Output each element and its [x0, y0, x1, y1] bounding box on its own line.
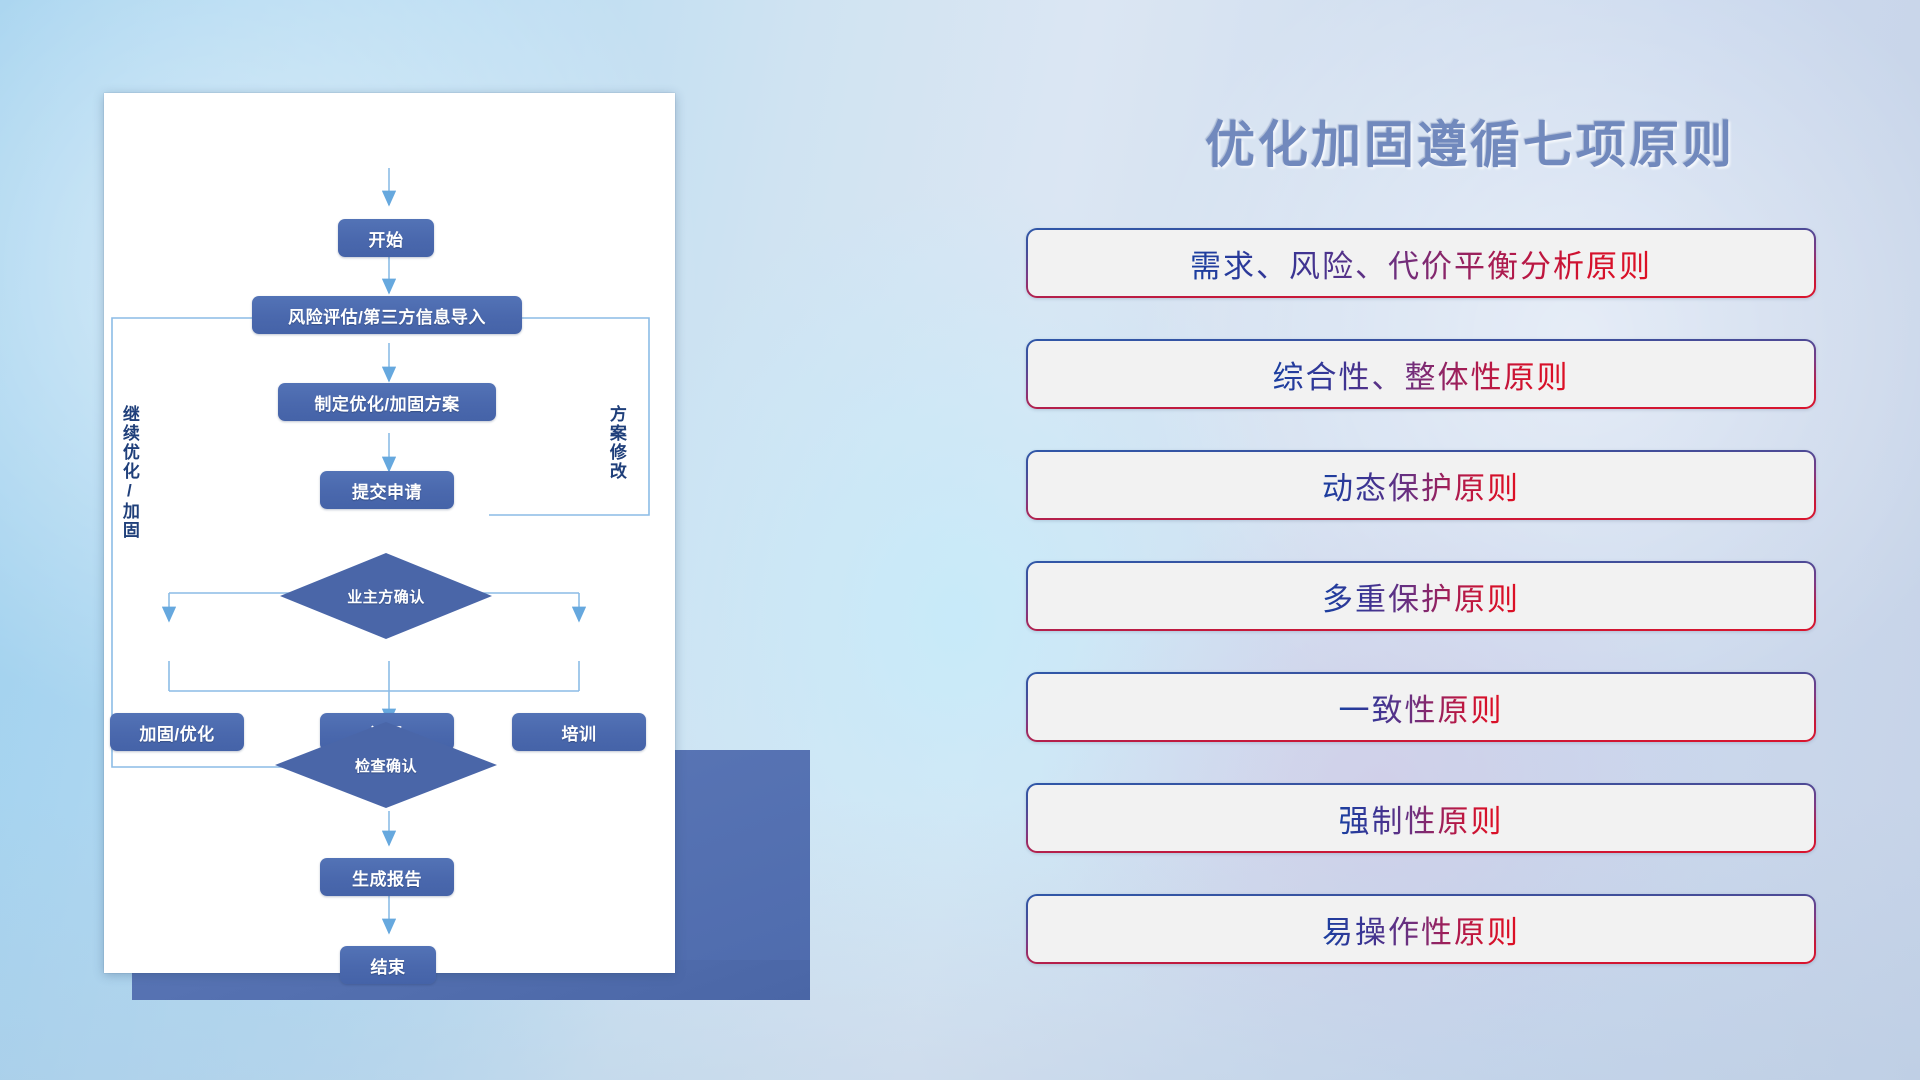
flow-node-owner-confirmation[interactable]: 业主方确认 — [280, 553, 492, 639]
edge-label-continue-optimize: 继续优化/加固 — [120, 405, 138, 565]
principle-item[interactable]: 多重保护原则 — [1026, 561, 1816, 631]
flow-node-plan[interactable]: 制定优化/加固方案 — [278, 383, 496, 421]
principle-item[interactable]: 易操作性原则 — [1026, 894, 1816, 964]
principle-item-inner: 强制性原则 — [1028, 785, 1814, 851]
flow-node-check-confirmation-label: 检查确认 — [355, 755, 417, 776]
principle-label: 一致性原则 — [1339, 685, 1504, 730]
flow-node-submit-application[interactable]: 提交申请 — [320, 471, 454, 509]
principles-title: 优化加固遵循七项原则 — [1020, 105, 1920, 177]
principle-item-inner: 需求、风险、代价平衡分析原则 — [1028, 230, 1814, 296]
flow-node-check-confirmation[interactable]: 检查确认 — [275, 722, 497, 808]
principle-item[interactable]: 一致性原则 — [1026, 672, 1816, 742]
principle-label: 动态保护原则 — [1322, 463, 1520, 508]
flow-node-training[interactable]: 培训 — [512, 713, 646, 751]
principle-label: 多重保护原则 — [1322, 574, 1520, 619]
principle-label: 强制性原则 — [1339, 796, 1504, 841]
principle-label: 综合性、整体性原则 — [1273, 352, 1570, 397]
flow-node-end[interactable]: 结束 — [340, 946, 436, 984]
principle-item-inner: 动态保护原则 — [1028, 452, 1814, 518]
principles-panel: 优化加固遵循七项原则 需求、风险、代价平衡分析原则 综合性、整体性原则 动态保护… — [1020, 0, 1920, 1080]
edge-label-plan-revision: 方案修改 — [607, 405, 625, 515]
principle-label: 需求、风险、代价平衡分析原则 — [1190, 241, 1652, 286]
principle-item-inner: 易操作性原则 — [1028, 896, 1814, 962]
principle-item[interactable]: 强制性原则 — [1026, 783, 1816, 853]
principle-item-inner: 综合性、整体性原则 — [1028, 341, 1814, 407]
flow-node-generate-report[interactable]: 生成报告 — [320, 858, 454, 896]
principle-item-inner: 一致性原则 — [1028, 674, 1814, 740]
principle-item[interactable]: 综合性、整体性原则 — [1026, 339, 1816, 409]
principle-item[interactable]: 动态保护原则 — [1026, 450, 1816, 520]
flow-node-risk-assessment[interactable]: 风险评估/第三方信息导入 — [252, 296, 522, 334]
principle-item[interactable]: 需求、风险、代价平衡分析原则 — [1026, 228, 1816, 298]
principle-label: 易操作性原则 — [1322, 907, 1520, 952]
principles-list: 需求、风险、代价平衡分析原则 综合性、整体性原则 动态保护原则 多重保护原则 一… — [1026, 228, 1816, 1005]
flow-node-reinforce-optimize[interactable]: 加固/优化 — [110, 713, 244, 751]
flow-node-owner-confirmation-label: 业主方确认 — [347, 586, 425, 607]
flowchart-panel: 开始 风险评估/第三方信息导入 制定优化/加固方案 提交申请 业主方确认 加固/… — [0, 0, 820, 1080]
principle-item-inner: 多重保护原则 — [1028, 563, 1814, 629]
flow-node-start[interactable]: 开始 — [338, 219, 434, 257]
